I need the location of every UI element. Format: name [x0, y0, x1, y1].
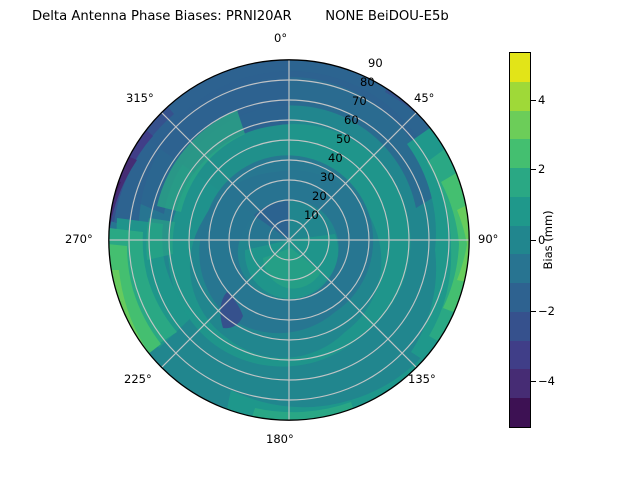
- colorbar-band: [510, 369, 530, 398]
- r-ticklabel-20: 20: [312, 189, 327, 203]
- theta-ticklabel-0: 0°: [274, 31, 287, 45]
- colorbar-band: [510, 226, 530, 255]
- colorbar-band: [510, 283, 530, 312]
- r-ticklabel-90: 90: [368, 56, 383, 70]
- colorbar-band: [510, 197, 530, 226]
- colorbar-tick-2: [531, 169, 536, 170]
- r-ticklabel-60: 60: [344, 113, 359, 127]
- r-ticklabel-80: 80: [360, 75, 375, 89]
- polar-grid: [109, 60, 469, 420]
- colorbar-ticklabel-2: 2: [538, 162, 545, 176]
- r-ticklabel-70: 70: [352, 94, 367, 108]
- colorbar-ticklabel-4: 4: [538, 93, 545, 107]
- colorbar-band: [510, 398, 530, 427]
- colorbar-axis-label: Bias (mm): [541, 210, 555, 269]
- theta-ticklabel-90: 90°: [478, 232, 498, 246]
- theta-ticklabel-315: 315°: [126, 91, 154, 105]
- colorbar-band: [510, 254, 530, 283]
- colorbar-band: [510, 139, 530, 168]
- colorbar-band: [510, 312, 530, 341]
- polar-plot-axes[interactable]: 0° 45° 90° 135° 180° 225° 270° 315° 10 2…: [108, 59, 470, 421]
- theta-ticklabel-225: 225°: [124, 372, 152, 386]
- theta-ticklabel-270: 270°: [65, 232, 93, 246]
- theta-ticklabel-180: 180°: [266, 432, 294, 446]
- theta-ticklabel-135: 135°: [408, 372, 436, 386]
- colorbar-band: [510, 341, 530, 370]
- colorbar-band: [510, 168, 530, 197]
- theta-ticklabel-45: 45°: [414, 91, 434, 105]
- r-ticklabel-30: 30: [320, 170, 335, 184]
- colorbar[interactable]: [509, 52, 531, 428]
- colorbar-band: [510, 111, 530, 140]
- colorbar-band: [510, 82, 530, 111]
- colorbar-tick-minus4: [531, 381, 536, 382]
- colorbar-ticklabel-minus4: −4: [538, 374, 555, 388]
- colorbar-tick-minus2: [531, 311, 536, 312]
- polar-plot-canvas: [108, 59, 470, 421]
- r-ticklabel-50: 50: [336, 132, 351, 146]
- colorbar-band: [510, 53, 530, 82]
- r-ticklabel-10: 10: [304, 208, 319, 222]
- colorbar-tick-0: [531, 240, 536, 241]
- page-title: Delta Antenna Phase Biases: PRNI20AR NON…: [0, 9, 640, 24]
- matplotlib-figure: Delta Antenna Phase Biases: PRNI20AR NON…: [0, 0, 640, 480]
- r-ticklabel-40: 40: [328, 151, 343, 165]
- colorbar-ticklabel-minus2: −2: [538, 304, 555, 318]
- colorbar-tick-4: [531, 100, 536, 101]
